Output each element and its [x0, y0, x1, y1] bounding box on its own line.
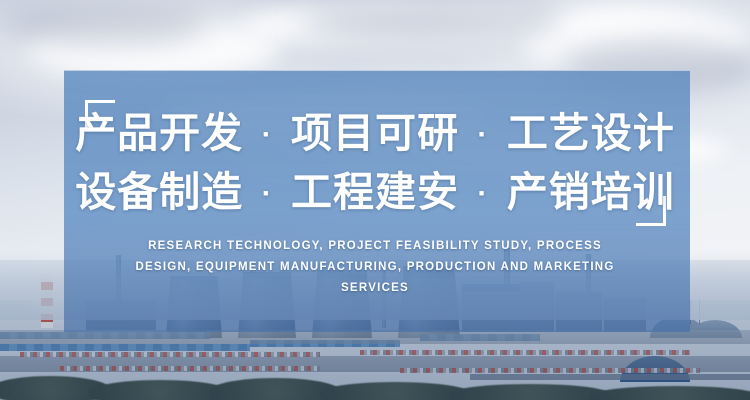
tree-line [320, 382, 470, 400]
headline-segment-3: 工艺设计 [507, 110, 675, 156]
tree-line [590, 386, 750, 400]
tree-line [450, 384, 610, 400]
headline-separator: · [471, 118, 494, 151]
headline-segment-5: 工程建安 [291, 169, 459, 215]
ground-band [0, 330, 750, 344]
headline-line-2: 设备制造 · 工程建安 · 产销培训 [0, 172, 750, 213]
headline-separator: · [256, 177, 279, 210]
headline-segment-2: 项目可研 [291, 110, 459, 156]
headline-separator: · [471, 177, 494, 210]
overpass-road [470, 374, 750, 380]
shed-roof [0, 344, 250, 351]
headline-line-1: 产品开发 · 项目可研 · 工艺设计 [0, 113, 750, 154]
headline-segment-4: 设备制造 [75, 169, 243, 215]
subtitle-english: RESEARCH TECHNOLOGY, PROJECT FEASIBILITY… [120, 236, 630, 299]
headline-segment-6: 产销培训 [507, 169, 675, 215]
parking-row [60, 366, 320, 371]
parking-row [400, 368, 700, 373]
parking-row [20, 352, 320, 357]
headline-segment-1: 产品开发 [75, 110, 243, 156]
tree-line [90, 380, 230, 400]
headline-separator: · [256, 118, 279, 151]
parking-row [360, 350, 690, 355]
promo-banner: 产品开发 · 项目可研 · 工艺设计 设备制造 · 工程建安 · 产销培训 RE… [0, 0, 750, 400]
